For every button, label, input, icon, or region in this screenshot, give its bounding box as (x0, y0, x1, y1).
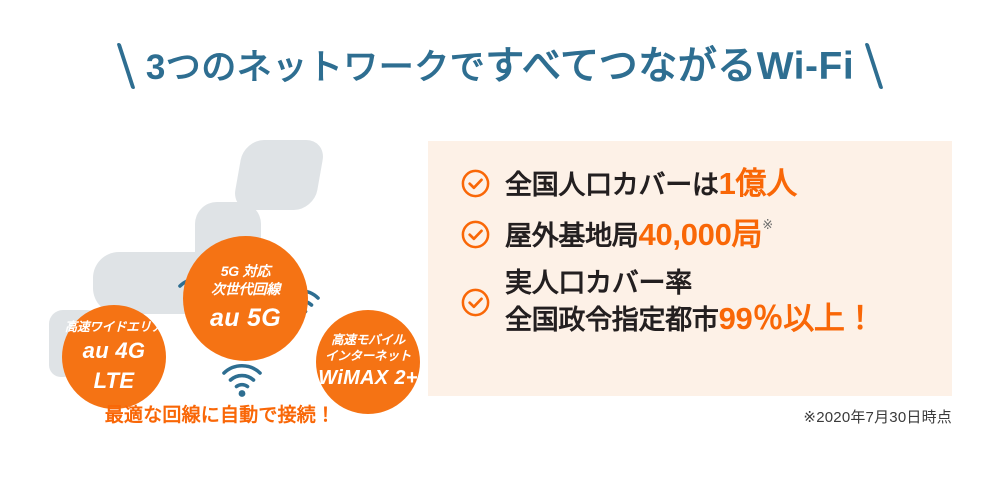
network-illustration: 高速ワイドエリア au 4G LTE 5G 対応 次世代回線 au 5G 高速モ… (20, 115, 420, 445)
bullet-text: 屋外基地局40,000局※ (505, 216, 773, 254)
bullet-text: 全国人口カバーは1億人 (505, 165, 797, 203)
check-circle-icon (460, 287, 491, 318)
network-main-label: au 5G (210, 302, 281, 334)
bullet-line: 実人口カバー率 (505, 267, 875, 300)
wifi-signal-icon (220, 362, 264, 398)
bullet-outdoor-base-stations: 屋外基地局40,000局※ (460, 216, 930, 254)
bullet-line: 全国人口カバーは1億人 (505, 165, 797, 203)
network-circle-au-4g-lte: 高速ワイドエリア au 4G LTE (62, 305, 166, 409)
footnote-text: ※2020年7月30日時点 (652, 406, 952, 427)
check-circle-icon (460, 168, 491, 199)
headline-text: 3つのネットワークですべてつながるWi-Fi (146, 47, 854, 86)
coverage-bullet-list: 全国人口カバーは1億人 屋外基地局40,000局※ (460, 165, 930, 337)
network-circle-wimax-2-plus: 高速モバイル インターネット WiMAX 2+ (316, 310, 420, 414)
headline-emphasis: すべてつながるWi-Fi (485, 45, 854, 88)
bullet-highlight-text: 40,000局 (639, 217, 763, 252)
map-shape-tohoku (232, 140, 326, 210)
network-sub-label: 高速ワイドエリア (65, 319, 163, 335)
network-sub-label-2: 次世代回線 (211, 281, 280, 299)
headline-prefix: 3つのネットワークで (146, 48, 485, 87)
bullet-real-population-coverage: 実人口カバー率 全国政令指定都市99％以上！ (460, 267, 930, 338)
bullet-plain-text: 全国政令指定都市 (505, 305, 719, 335)
network-main-label: au 4G (83, 337, 146, 365)
check-circle-icon (460, 219, 491, 250)
bullet-highlight-text: 99％以上！ (719, 301, 876, 336)
network-sub-label: 高速モバイル (331, 332, 405, 348)
bullet-text: 実人口カバー率 全国政令指定都市99％以上！ (505, 267, 875, 338)
headline: 3つのネットワークですべてつながるWi-Fi (0, 38, 1000, 94)
network-circle-au-5g: 5G 対応 次世代回線 au 5G (183, 236, 308, 361)
footnote-marker: ※ (762, 217, 773, 232)
promo-banner: 3つのネットワークですべてつながるWi-Fi (0, 0, 1000, 477)
bullet-population-coverage: 全国人口カバーは1億人 (460, 165, 930, 203)
auto-connect-caption: 最適な回線に自動で接続！ (20, 400, 420, 427)
network-main-label-2: LTE (94, 367, 135, 395)
coverage-panel: 全国人口カバーは1億人 屋外基地局40,000局※ (428, 141, 952, 396)
network-sub-label-2: インターネット (325, 348, 411, 364)
bullet-highlight-text: 1億人 (719, 166, 797, 201)
network-sub-label: 5G 対応 (221, 263, 271, 281)
bullet-plain-text: 実人口カバー率 (505, 268, 692, 298)
bullet-plain-text: 屋外基地局 (505, 221, 639, 251)
right-slash-decoration (865, 43, 884, 89)
bullet-line: 屋外基地局40,000局※ (505, 216, 773, 254)
network-main-label: WiMAX 2+ (318, 366, 417, 392)
bullet-line: 全国政令指定都市99％以上！ (505, 300, 875, 338)
left-slash-decoration (116, 43, 135, 89)
bullet-plain-text: 全国人口カバーは (505, 170, 719, 200)
